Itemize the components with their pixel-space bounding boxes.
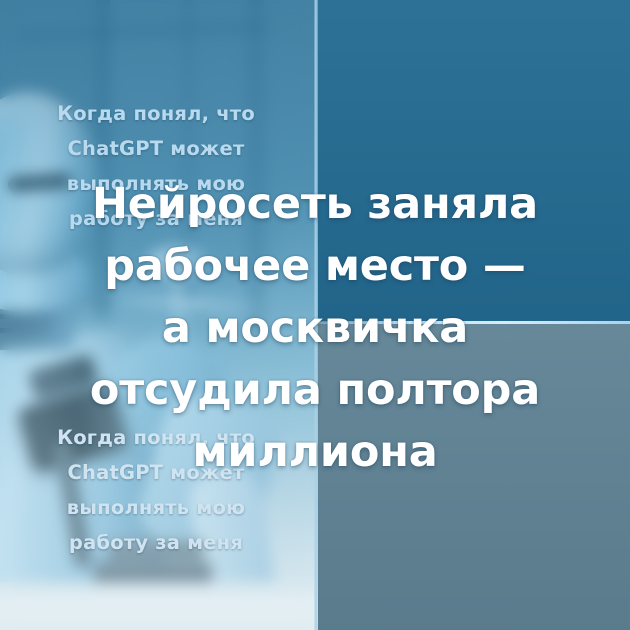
headline-line-3: а москвичка <box>162 297 468 359</box>
headline-line-1: Нейросеть заняла <box>92 173 538 235</box>
headline-overlay: Нейросеть заняла рабочее место — а москв… <box>0 0 630 630</box>
headline-line-5: миллиона <box>192 421 437 483</box>
headline-line-2: рабочее место — <box>104 235 525 297</box>
headline-line-4: отсудила полтора <box>90 359 540 421</box>
thumbnail-canvas: Когда понял, что ChatGPT может выполнять… <box>0 0 630 630</box>
